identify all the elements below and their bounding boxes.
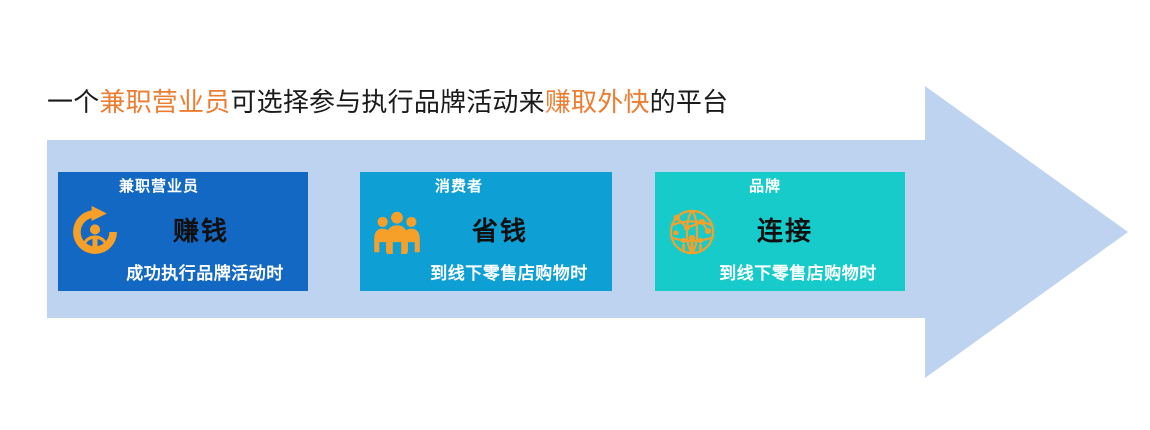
headline-segment-2: 可选择参与执行品牌活动来: [230, 88, 544, 117]
card-footer-label: 到线下零售店购物时: [655, 263, 905, 285]
card-footer-label: 到线下零售店购物时: [360, 263, 612, 285]
card-main-label: 省钱: [360, 216, 612, 248]
card-main-label: 赚钱: [58, 216, 308, 248]
card-main-label: 连接: [655, 216, 905, 248]
card-header-label: 兼职营业员: [58, 178, 308, 197]
card-footer-label: 成功执行品牌活动时: [58, 263, 308, 285]
page-title: 一个兼职营业员可选择参与执行品牌活动来赚取外快的平台: [47, 86, 728, 120]
card-brand[interactable]: 品牌 连接 到线下零售店购物时: [655, 172, 905, 291]
card-consumer[interactable]: 消费者 省钱 到线下零售店购物时: [360, 172, 612, 291]
headline-segment-4: 的平台: [650, 88, 729, 117]
headline-segment-0: 一个: [47, 88, 99, 117]
headline-segment-3-highlight: 赚取外快: [545, 88, 650, 117]
card-header-label: 品牌: [655, 178, 905, 197]
headline-segment-1-highlight: 兼职营业员: [99, 88, 230, 117]
card-header-label: 消费者: [360, 178, 612, 197]
card-part-time-clerk[interactable]: 兼职营业员 赚钱 成功执行品牌活动时: [58, 172, 308, 291]
